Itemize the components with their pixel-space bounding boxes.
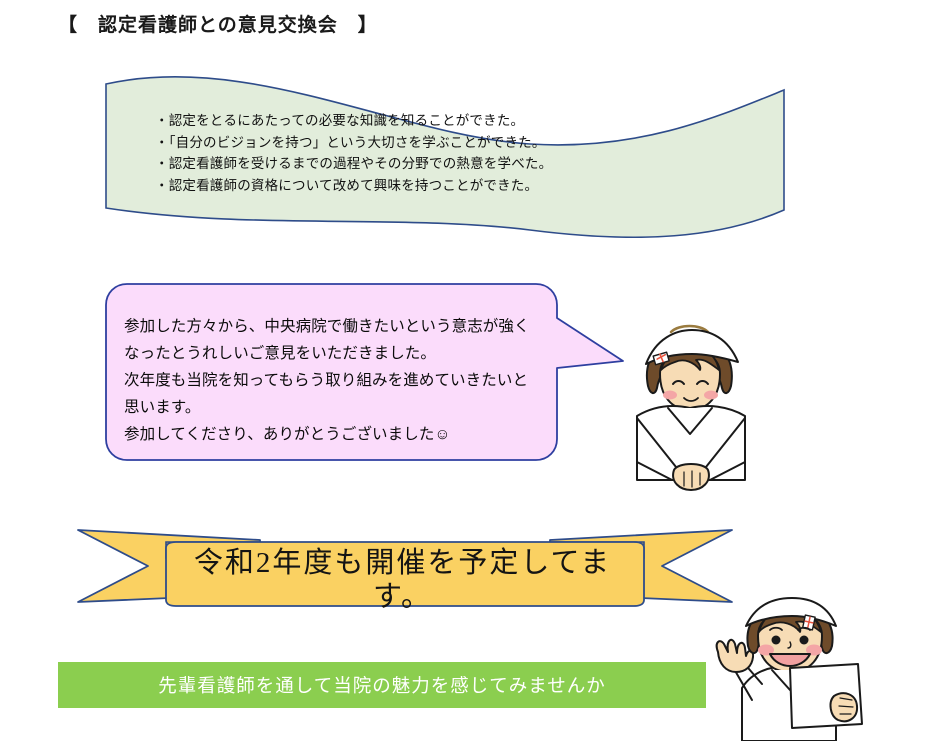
wave-banner-text: ・認定をとるにあたっての必要な知識を知ることができた。 ・「自分のビジョンを持つ… [155,110,655,196]
speech-bubble-text: 参加した方々から、中央病院で働きたいという意志が強く なったとうれしいご意見をい… [124,313,549,448]
ribbon-text: 令和2年度も開催を予定してます。 [170,546,635,614]
bowing-nurse-illustration [612,312,772,502]
page-title: 【 認定看護師との意見交換会 】 [58,10,378,37]
recruit-cta-label: 先輩看護師を通して当院の魅力を感じてみませんか [58,662,706,708]
waving-nurse-svg [700,596,890,741]
bowing-nurse-svg [612,312,772,502]
waving-nurse-illustration [700,596,890,741]
